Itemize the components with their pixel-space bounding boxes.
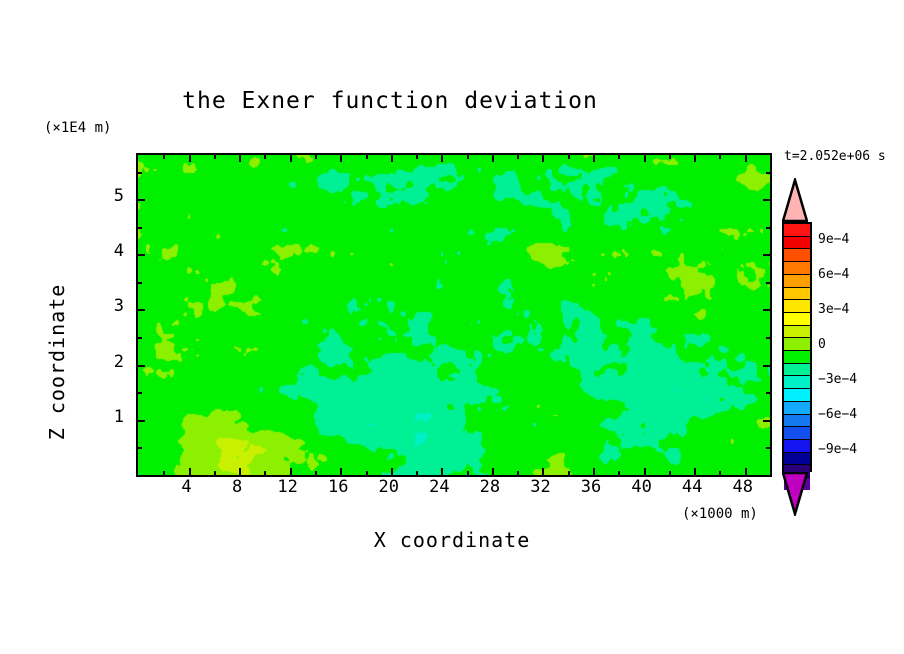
x-axis-minor-tick [770, 471, 772, 475]
x-axis-minor-tick [366, 471, 368, 475]
colorbar-tick-label: 6e−4 [818, 267, 849, 282]
x-axis-minor-tick [366, 155, 368, 159]
colorbar-tick-label: −6e−4 [818, 407, 857, 422]
y-axis-minor-tick [766, 282, 770, 284]
colorbar-band [784, 262, 810, 275]
x-axis-tick [542, 468, 544, 475]
y-axis-minor-tick [138, 447, 142, 449]
y-axis-tick-label: 1 [100, 407, 124, 427]
x-axis-tick [340, 155, 342, 162]
colorbar-band [784, 364, 810, 377]
colorbar-band [784, 402, 810, 415]
colorbar [782, 222, 812, 472]
x-axis-tick-label: 12 [268, 477, 308, 497]
y-axis-tick-label: 3 [100, 296, 124, 316]
x-axis-minor-tick [568, 471, 570, 475]
x-axis-tick [745, 468, 747, 475]
y-axis-tick [763, 254, 770, 256]
colorbar-tick-label: 3e−4 [818, 302, 849, 317]
x-axis-tick [492, 155, 494, 162]
x-axis-minor-tick [618, 471, 620, 475]
y-axis-tick [763, 199, 770, 201]
colorbar-band [784, 453, 810, 466]
x-axis-tick [391, 155, 393, 162]
x-axis-tick [189, 155, 191, 162]
x-axis-tick [189, 468, 191, 475]
y-axis-unit-label: (×1E4 m) [44, 120, 111, 136]
timestamp-label: t=2.052e+06 s [784, 149, 886, 164]
y-axis-minor-tick [766, 337, 770, 339]
colorbar-band [784, 389, 810, 402]
colorbar-band [784, 275, 810, 288]
colorbar-band [784, 237, 810, 250]
x-axis-tick-label: 4 [167, 477, 207, 497]
y-axis-minor-tick [138, 337, 142, 339]
x-axis-minor-tick [214, 155, 216, 159]
colorbar-band [784, 338, 810, 351]
x-axis-minor-tick [719, 471, 721, 475]
x-axis-minor-tick [770, 155, 772, 159]
y-axis-tick [763, 365, 770, 367]
colorbar-band [784, 440, 810, 453]
x-axis-minor-tick [568, 155, 570, 159]
x-axis-unit-label: (×1000 m) [682, 506, 758, 522]
x-axis-tick [290, 468, 292, 475]
x-axis-minor-tick [467, 155, 469, 159]
contour-plot-area [136, 153, 772, 477]
x-axis-minor-tick [669, 155, 671, 159]
y-axis-tick [138, 420, 145, 422]
x-axis-tick-label: 16 [318, 477, 358, 497]
y-axis-tick [138, 199, 145, 201]
colorbar-tick-label: 9e−4 [818, 232, 849, 247]
colorbar-band [784, 313, 810, 326]
y-axis-tick [138, 254, 145, 256]
y-axis-tick-label: 5 [100, 186, 124, 206]
x-axis-tick [644, 155, 646, 162]
x-axis-tick-label: 40 [622, 477, 662, 497]
colorbar-tick-label: −9e−4 [818, 442, 857, 457]
x-axis-tick [644, 468, 646, 475]
x-axis-tick [694, 468, 696, 475]
y-axis-tick-label: 2 [100, 352, 124, 372]
y-axis-tick-label: 4 [100, 241, 124, 261]
y-axis-minor-tick [766, 227, 770, 229]
y-axis-minor-tick [138, 392, 142, 394]
y-axis-tick [763, 309, 770, 311]
colorbar-band [784, 326, 810, 339]
x-axis-minor-tick [517, 471, 519, 475]
x-axis-minor-tick [163, 471, 165, 475]
x-axis-tick [745, 155, 747, 162]
contour-field-canvas [138, 155, 770, 475]
colorbar-band [784, 300, 810, 313]
x-axis-tick [542, 155, 544, 162]
x-axis-tick-label: 28 [470, 477, 510, 497]
x-axis-minor-tick [719, 155, 721, 159]
x-axis-tick [340, 468, 342, 475]
chart-title: the Exner function deviation [0, 88, 780, 114]
x-axis-tick [593, 155, 595, 162]
x-axis-minor-tick [163, 155, 165, 159]
x-axis-minor-tick [517, 155, 519, 159]
colorbar-tick-label: 0 [818, 337, 826, 352]
x-axis-tick-label: 20 [369, 477, 409, 497]
y-axis-minor-tick [138, 172, 142, 174]
x-axis-tick-label: 24 [419, 477, 459, 497]
x-axis-tick-label: 48 [723, 477, 763, 497]
x-axis-minor-tick [669, 471, 671, 475]
colorbar-band [784, 224, 810, 237]
colorbar-band [784, 427, 810, 440]
x-axis-title: X coordinate [136, 528, 768, 552]
x-axis-tick [441, 155, 443, 162]
x-axis-tick [290, 155, 292, 162]
y-axis-minor-tick [138, 227, 142, 229]
x-axis-minor-tick [618, 155, 620, 159]
y-axis-title: Z coordinate [45, 242, 69, 482]
y-axis-tick [138, 309, 145, 311]
x-axis-minor-tick [315, 471, 317, 475]
x-axis-tick [441, 468, 443, 475]
y-axis-tick [138, 365, 145, 367]
x-axis-tick [391, 468, 393, 475]
y-axis-tick [763, 420, 770, 422]
x-axis-tick [593, 468, 595, 475]
y-axis-minor-tick [766, 447, 770, 449]
x-axis-tick [694, 155, 696, 162]
x-axis-tick [492, 468, 494, 475]
x-axis-tick [239, 468, 241, 475]
colorbar-band [784, 288, 810, 301]
colorbar-band [784, 376, 810, 389]
y-axis-minor-tick [766, 172, 770, 174]
x-axis-minor-tick [264, 155, 266, 159]
x-axis-minor-tick [416, 155, 418, 159]
y-axis-minor-tick [138, 282, 142, 284]
x-axis-tick-label: 36 [571, 477, 611, 497]
colorbar-band [784, 351, 810, 364]
x-axis-minor-tick [416, 471, 418, 475]
x-axis-tick [239, 155, 241, 162]
colorbar-band [784, 249, 810, 262]
colorbar-tick-label: −3e−4 [818, 372, 857, 387]
y-axis-minor-tick [766, 392, 770, 394]
x-axis-tick-label: 44 [672, 477, 712, 497]
x-axis-minor-tick [467, 471, 469, 475]
x-axis-minor-tick [264, 471, 266, 475]
x-axis-minor-tick [315, 155, 317, 159]
colorbar-band [784, 415, 810, 428]
x-axis-tick-label: 8 [217, 477, 257, 497]
x-axis-tick-label: 32 [520, 477, 560, 497]
x-axis-minor-tick [214, 471, 216, 475]
